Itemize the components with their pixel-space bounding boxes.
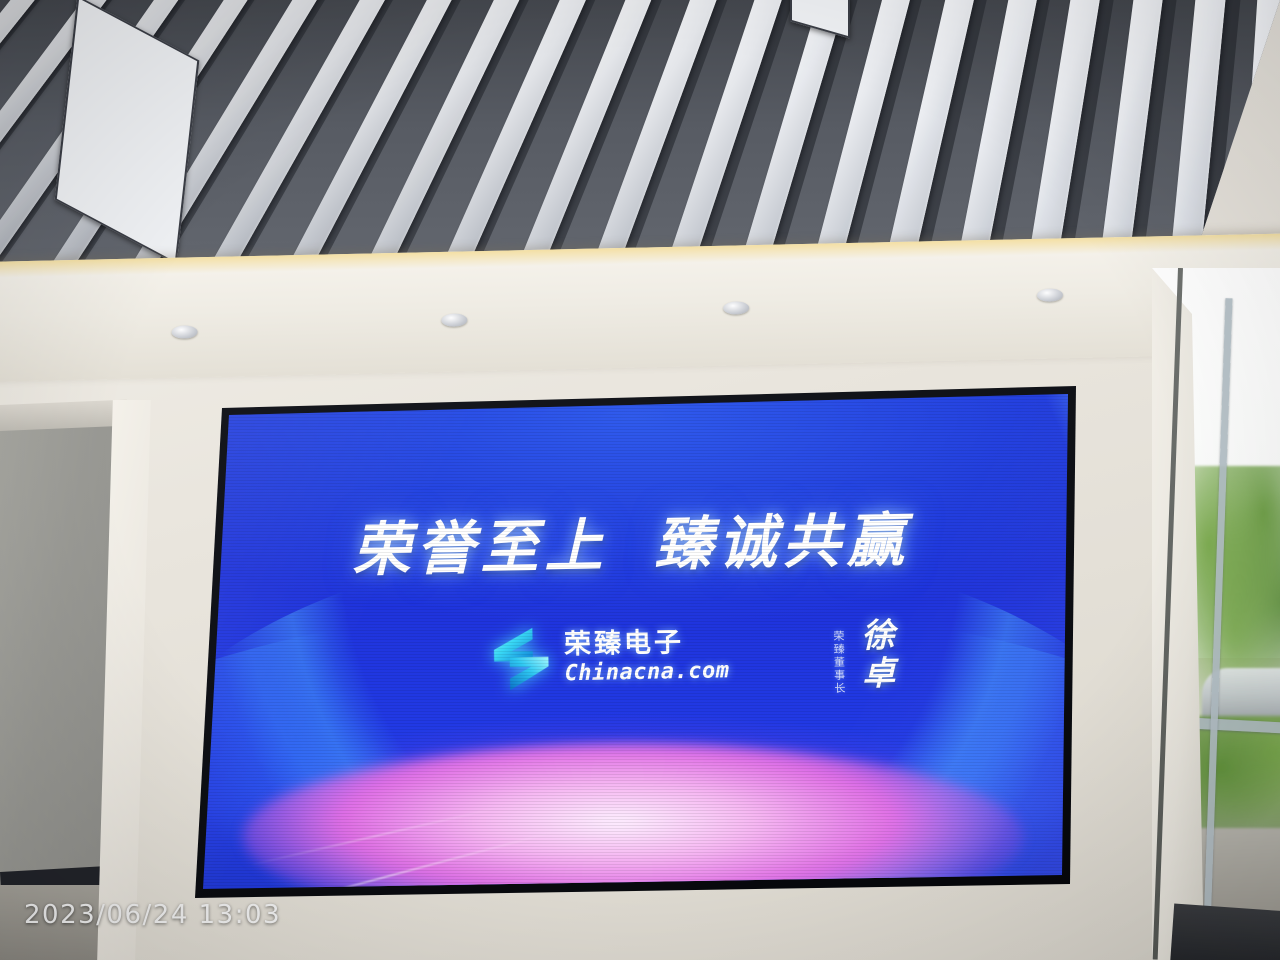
downlight-icon <box>171 325 197 339</box>
back-wall <box>0 300 1190 960</box>
curtain-wall-window <box>1152 268 1280 960</box>
downlight-icon <box>723 301 749 315</box>
photo-canvas: 荣誉至上臻诚共赢 <box>0 0 1280 960</box>
camera-timestamp: 2023/06/24 13:03 <box>24 900 281 930</box>
downlight-icon <box>441 313 467 327</box>
downlight-icon <box>1037 288 1063 302</box>
alcove-header <box>0 400 128 431</box>
window-sill <box>1170 904 1280 960</box>
